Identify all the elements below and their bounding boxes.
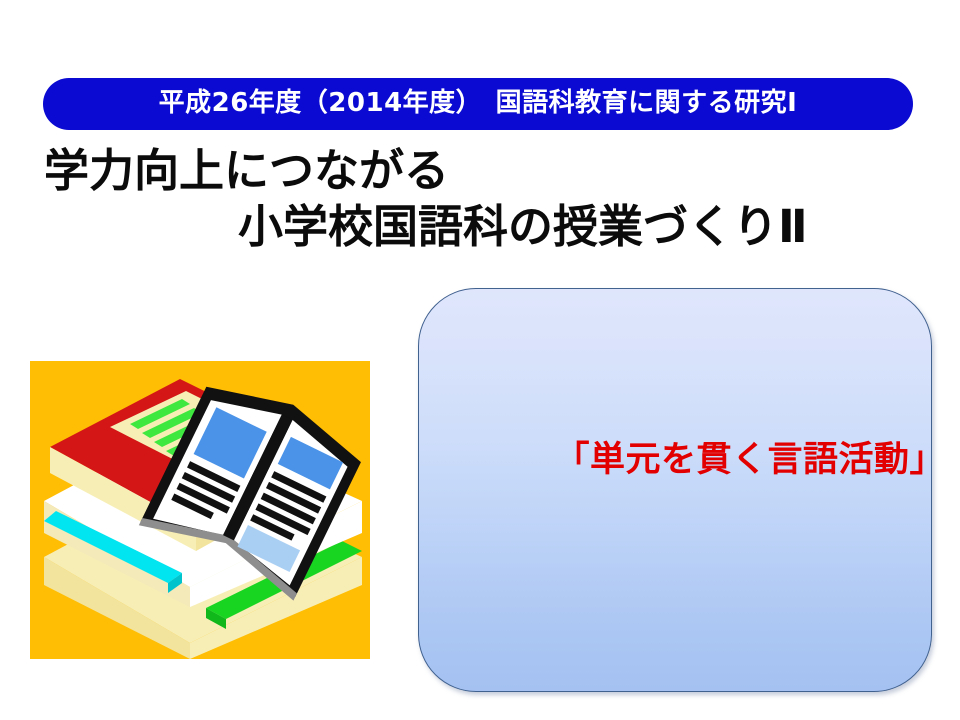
books-illustration	[30, 361, 370, 659]
message-line-1: 「単元を貫く言語活動」で、	[437, 328, 915, 592]
message-line-1-highlight: 「単元を貫く言語活動」	[554, 440, 932, 480]
message-panel: 「単元を貫く言語活動」で、 自分の考えを明確にしながら 読む力を高める指導法・評…	[418, 288, 932, 692]
message-line-2: 自分の考えを明確にしながら	[437, 592, 915, 692]
slide-canvas: 平成26年度（2014年度） 国語科教育に関する研究Ⅰ 学力向上につながる 小学…	[0, 0, 960, 720]
stack-of-books-icon	[30, 361, 370, 659]
title-line-2: 小学校国語科の授業づくりⅡ	[238, 199, 960, 255]
page-title: 学力向上につながる 小学校国語科の授業づくりⅡ	[0, 143, 960, 255]
header-banner-label: 平成26年度（2014年度） 国語科教育に関する研究Ⅰ	[159, 90, 798, 116]
title-line-1: 学力向上につながる	[44, 143, 960, 199]
header-banner: 平成26年度（2014年度） 国語科教育に関する研究Ⅰ	[43, 78, 913, 130]
message-text-block: 「単元を貫く言語活動」で、 自分の考えを明確にしながら 読む力を高める指導法・評…	[437, 328, 915, 692]
